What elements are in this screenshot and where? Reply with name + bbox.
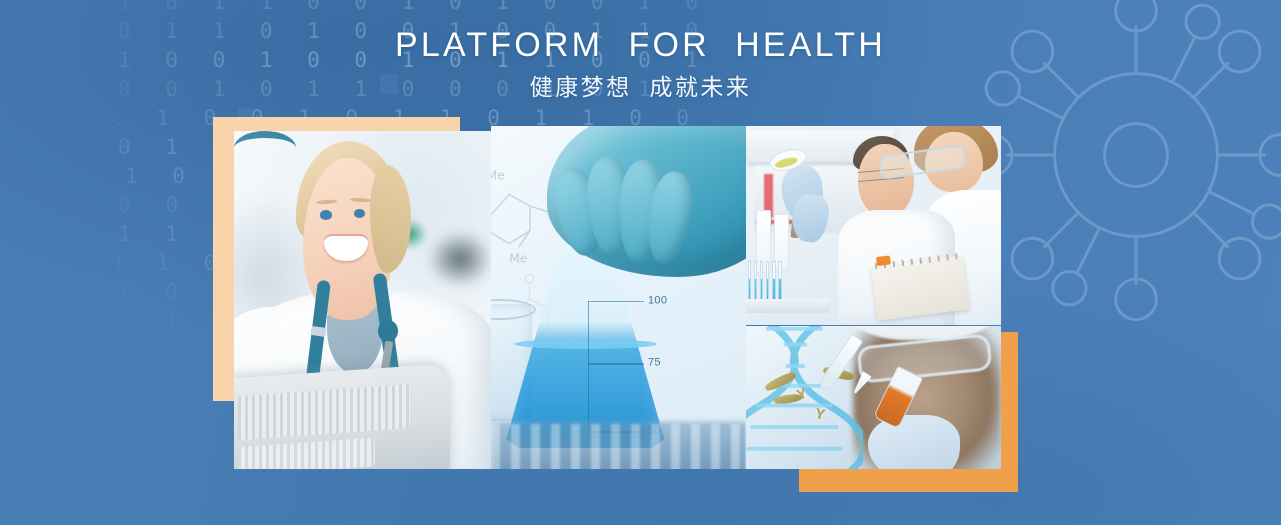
graduation-label: 100 bbox=[648, 294, 667, 306]
notepad bbox=[871, 256, 969, 321]
photo-lab-scientists bbox=[746, 126, 1001, 325]
photo-doctor bbox=[234, 131, 491, 469]
graduation-label: 75 bbox=[648, 357, 661, 369]
page-subtitle: 健康梦想 成就未来 bbox=[0, 72, 1281, 102]
flask-graduation-scale: 100 75 50 bbox=[588, 301, 644, 431]
banner-headings: PLATFORM FOR HEALTH 健康梦想 成就未来 bbox=[0, 24, 1281, 102]
page-title: PLATFORM FOR HEALTH bbox=[0, 24, 1281, 66]
photo-dna-pipette: Y Y bbox=[746, 326, 1001, 469]
health-platform-banner: 1 0 1 1 0 0 1 0 1 0 0 1 0 1 0 0 0 1 1 0 … bbox=[0, 0, 1281, 525]
lab-glove bbox=[868, 415, 960, 469]
photo-flask: Me Me O OH O bbox=[491, 126, 746, 469]
computer-monitor bbox=[234, 363, 450, 469]
svg-text:Me: Me bbox=[491, 169, 505, 183]
